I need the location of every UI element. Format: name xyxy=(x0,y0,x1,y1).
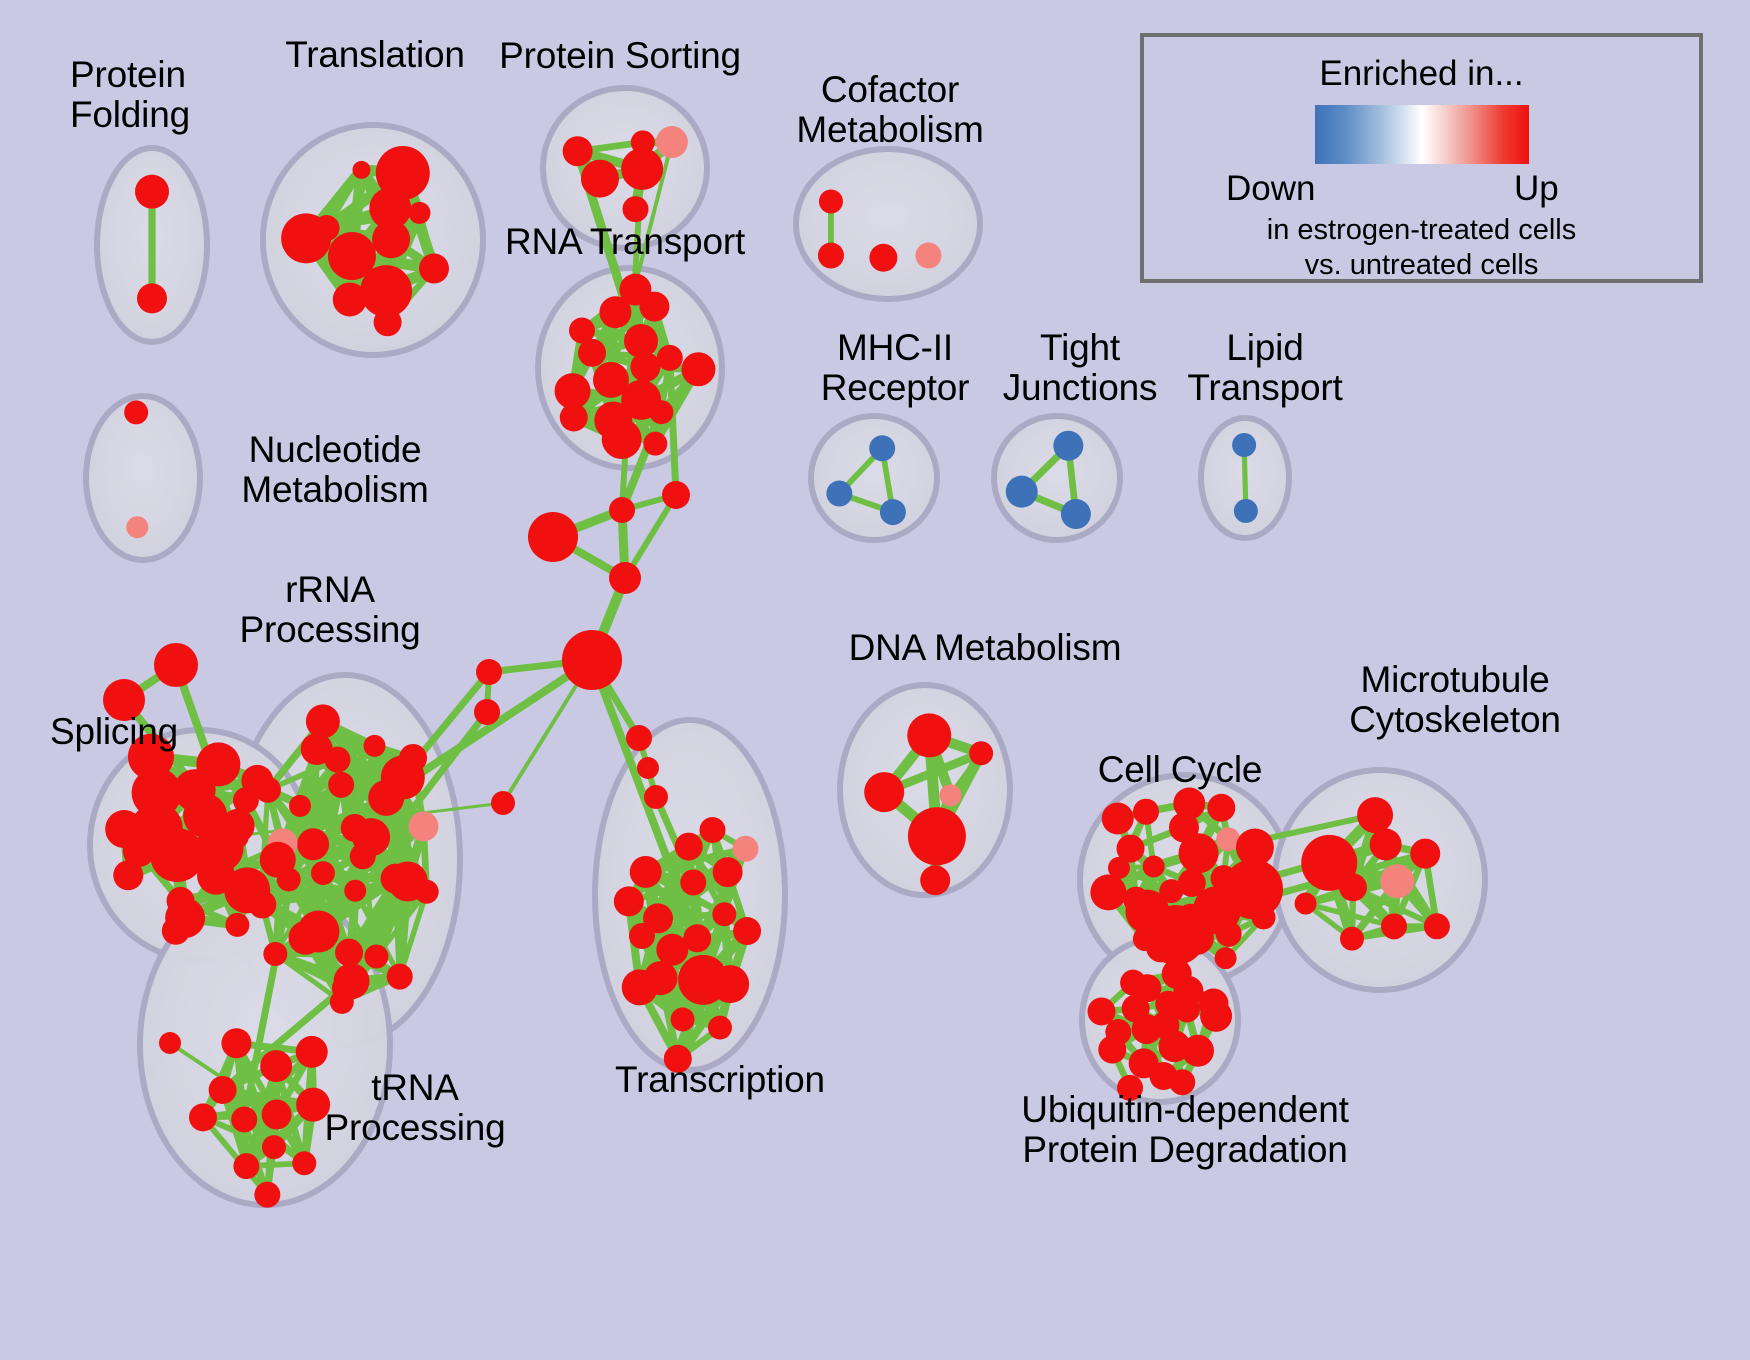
node-microtubule-cytoskeleton[interactable] xyxy=(1340,927,1364,951)
node-rna-transport[interactable] xyxy=(619,274,651,306)
node-lipid-transport[interactable] xyxy=(1234,499,1258,523)
node-rna-transport[interactable] xyxy=(681,352,715,386)
cluster-label-rrna-processing: rRNA Processing xyxy=(205,570,455,650)
node-rrna-processing[interactable] xyxy=(289,921,323,955)
node-translation[interactable] xyxy=(376,146,430,200)
node-microtubule-cytoskeleton[interactable] xyxy=(1410,839,1440,869)
node-mhc-ii-receptor[interactable] xyxy=(880,499,906,525)
node-bridge[interactable] xyxy=(562,630,622,690)
node-cell-cycle[interactable] xyxy=(1207,794,1235,822)
node-rna-transport[interactable] xyxy=(649,400,673,424)
cluster-label-splicing: Splicing xyxy=(50,712,250,752)
node-rrna-processing[interactable] xyxy=(363,735,385,757)
node-trna-processing[interactable] xyxy=(292,1151,316,1175)
node-dna-metabolism[interactable] xyxy=(864,772,904,812)
node-rrna-processing[interactable] xyxy=(311,861,335,885)
node-rrna-processing[interactable] xyxy=(306,704,340,738)
node-microtubule-cytoskeleton[interactable] xyxy=(1370,828,1402,860)
legend-high-label: Up xyxy=(1514,169,1559,209)
node-cofactor-metabolism[interactable] xyxy=(915,243,941,269)
node-ubiquitin-protein-degradation[interactable] xyxy=(1120,970,1146,996)
node-microtubule-cytoskeleton[interactable] xyxy=(1424,913,1450,939)
node-cell-cycle[interactable] xyxy=(1236,828,1274,866)
node-protein-folding[interactable] xyxy=(137,283,167,313)
node-splicing[interactable] xyxy=(241,765,273,797)
node-trna-processing[interactable] xyxy=(262,1135,286,1159)
node-bridge[interactable] xyxy=(1146,905,1206,965)
cluster-label-transcription: Transcription xyxy=(560,1060,880,1100)
node-rna-transport[interactable] xyxy=(643,432,667,456)
node-rrna-processing[interactable] xyxy=(328,772,354,798)
node-tight-junctions[interactable] xyxy=(1061,499,1091,529)
node-cell-cycle[interactable] xyxy=(1252,905,1276,929)
node-bridge[interactable] xyxy=(154,643,198,687)
node-cell-cycle[interactable] xyxy=(1215,947,1237,969)
node-bridge[interactable] xyxy=(476,659,502,685)
node-cofactor-metabolism[interactable] xyxy=(819,190,843,214)
legend-low-label: Down xyxy=(1226,169,1315,209)
node-rrna-processing[interactable] xyxy=(364,945,388,969)
cluster-ellipse-cofactor-metabolism xyxy=(796,149,980,299)
node-transcription[interactable] xyxy=(713,857,743,887)
node-cell-cycle[interactable] xyxy=(1133,799,1159,825)
node-rna-transport[interactable] xyxy=(657,345,683,371)
node-transcription[interactable] xyxy=(711,965,749,1003)
node-mhc-ii-receptor[interactable] xyxy=(869,435,895,461)
node-transcription[interactable] xyxy=(680,869,706,895)
node-rrna-processing[interactable] xyxy=(330,990,354,1014)
node-transcription[interactable] xyxy=(622,969,658,1005)
node-dna-metabolism[interactable] xyxy=(907,713,951,757)
node-rrna-processing[interactable] xyxy=(335,939,363,967)
node-rna-transport[interactable] xyxy=(624,324,658,358)
node-ubiquitin-protein-degradation[interactable] xyxy=(1182,1035,1214,1067)
node-trna-processing[interactable] xyxy=(254,1182,280,1208)
edge xyxy=(289,879,396,880)
legend-title: Enriched in... xyxy=(1144,54,1699,94)
node-transcription[interactable] xyxy=(733,917,761,945)
node-transcription[interactable] xyxy=(671,1007,695,1031)
node-protein-sorting[interactable] xyxy=(656,126,688,158)
node-bridge[interactable] xyxy=(474,699,500,725)
node-trna-processing[interactable] xyxy=(221,1028,251,1058)
legend-color-bar xyxy=(1315,105,1529,164)
node-splicing[interactable] xyxy=(224,867,270,913)
node-cell-cycle[interactable] xyxy=(1173,787,1205,819)
node-nucleotide-metabolism[interactable] xyxy=(126,516,148,538)
node-transcription[interactable] xyxy=(712,902,736,926)
node-rna-transport[interactable] xyxy=(602,419,642,459)
node-rrna-processing[interactable] xyxy=(297,828,329,860)
cluster-label-ubiquitin-protein-degradation: Ubiquitin-dependent Protein Degradation xyxy=(960,1090,1410,1170)
node-dna-metabolism[interactable] xyxy=(969,741,993,765)
node-ubiquitin-protein-degradation[interactable] xyxy=(1098,1036,1126,1064)
node-transcription[interactable] xyxy=(629,923,655,949)
node-cell-cycle[interactable] xyxy=(1143,856,1165,878)
node-bridge[interactable] xyxy=(609,562,641,594)
cluster-label-lipid-transport: Lipid Transport xyxy=(1150,328,1380,408)
node-rrna-processing[interactable] xyxy=(289,795,311,817)
node-cell-cycle[interactable] xyxy=(1223,859,1283,919)
node-protein-sorting[interactable] xyxy=(631,130,655,154)
node-cell-cycle[interactable] xyxy=(1216,921,1242,947)
node-dna-metabolism[interactable] xyxy=(920,865,950,895)
node-ubiquitin-protein-degradation[interactable] xyxy=(1087,997,1115,1025)
node-tight-junctions[interactable] xyxy=(1006,476,1038,508)
node-rna-transport[interactable] xyxy=(569,317,595,343)
node-trna-processing[interactable] xyxy=(260,1050,292,1082)
node-ubiquitin-protein-degradation[interactable] xyxy=(1198,988,1228,1018)
node-trna-processing[interactable] xyxy=(262,1099,292,1129)
node-bridge[interactable] xyxy=(626,725,652,751)
cluster-label-cofactor-metabolism: Cofactor Metabolism xyxy=(745,70,1035,150)
node-translation[interactable] xyxy=(333,282,367,316)
node-trna-processing[interactable] xyxy=(189,1103,217,1131)
node-rrna-processing[interactable] xyxy=(415,880,439,904)
node-translation[interactable] xyxy=(374,308,402,336)
node-translation[interactable] xyxy=(281,213,331,263)
node-trna-processing[interactable] xyxy=(233,1153,259,1179)
node-cell-cycle[interactable] xyxy=(1090,874,1126,910)
node-protein-sorting[interactable] xyxy=(563,136,593,166)
node-transcription[interactable] xyxy=(708,1016,732,1040)
node-splicing[interactable] xyxy=(162,917,190,945)
node-trna-processing[interactable] xyxy=(296,1036,328,1068)
node-rrna-processing[interactable] xyxy=(344,880,366,902)
node-microtubule-cytoskeleton[interactable] xyxy=(1381,913,1407,939)
node-rrna-processing[interactable] xyxy=(263,942,287,966)
node-microtubule-cytoskeleton[interactable] xyxy=(1357,797,1393,833)
node-protein-sorting[interactable] xyxy=(622,196,648,222)
node-lipid-transport[interactable] xyxy=(1232,433,1256,457)
node-nucleotide-metabolism[interactable] xyxy=(124,400,148,424)
node-mhc-ii-receptor[interactable] xyxy=(826,481,852,507)
legend-subtitle: in estrogen-treated cells vs. untreated … xyxy=(1144,213,1699,283)
node-translation[interactable] xyxy=(352,161,370,179)
node-microtubule-cytoskeleton[interactable] xyxy=(1380,864,1414,898)
node-cofactor-metabolism[interactable] xyxy=(818,243,844,269)
cluster-label-trna-processing: tRNA Processing xyxy=(290,1068,540,1148)
node-dna-metabolism[interactable] xyxy=(908,807,966,865)
node-bridge[interactable] xyxy=(637,757,659,779)
cluster-label-rna-transport: RNA Transport xyxy=(430,222,820,262)
node-bridge[interactable] xyxy=(159,1032,181,1054)
node-transcription[interactable] xyxy=(630,856,662,888)
node-splicing[interactable] xyxy=(225,913,249,937)
node-splicing[interactable] xyxy=(105,810,143,848)
node-trna-processing[interactable] xyxy=(231,1106,257,1132)
node-splicing[interactable] xyxy=(260,842,296,878)
node-translation[interactable] xyxy=(408,202,430,224)
node-transcription[interactable] xyxy=(732,836,758,862)
node-transcription[interactable] xyxy=(699,817,725,843)
node-microtubule-cytoskeleton[interactable] xyxy=(1295,893,1317,915)
cluster-ellipse-tight-junctions xyxy=(994,416,1120,540)
node-cell-cycle[interactable] xyxy=(1102,803,1134,835)
node-splicing[interactable] xyxy=(113,860,143,890)
cluster-label-dna-metabolism: DNA Metabolism xyxy=(790,628,1180,668)
legend-box: Enriched in... Down Up in estrogen-treat… xyxy=(1140,33,1703,283)
node-microtubule-cytoskeleton[interactable] xyxy=(1301,835,1357,891)
cluster-ellipse-mhc-ii-receptor xyxy=(811,416,937,540)
node-rrna-processing[interactable] xyxy=(301,733,333,765)
node-rrna-processing[interactable] xyxy=(352,818,390,856)
node-transcription[interactable] xyxy=(675,833,703,861)
node-bridge[interactable] xyxy=(528,512,578,562)
node-protein-sorting[interactable] xyxy=(581,160,619,198)
cluster-label-nucleotide-metabolism: Nucleotide Metabolism xyxy=(190,430,480,510)
cluster-label-cell-cycle: Cell Cycle xyxy=(1040,750,1320,790)
node-tight-junctions[interactable] xyxy=(1053,431,1083,461)
node-rrna-processing[interactable] xyxy=(387,964,413,990)
node-bridge[interactable] xyxy=(491,791,515,815)
node-rna-transport[interactable] xyxy=(560,403,588,431)
node-bridge[interactable] xyxy=(609,497,635,523)
node-trna-processing[interactable] xyxy=(209,1076,237,1104)
node-protein-folding[interactable] xyxy=(135,175,169,209)
cluster-label-microtubule-cytoskeleton: Microtubule Cytoskeleton xyxy=(1280,660,1630,740)
node-dna-metabolism[interactable] xyxy=(940,784,962,806)
node-rrna-processing[interactable] xyxy=(408,811,438,841)
node-cofactor-metabolism[interactable] xyxy=(869,244,897,272)
node-cell-cycle[interactable] xyxy=(1123,887,1149,913)
node-transcription[interactable] xyxy=(614,886,644,916)
node-bridge[interactable] xyxy=(662,481,690,509)
node-bridge[interactable] xyxy=(644,785,668,809)
node-bridge[interactable] xyxy=(223,823,249,849)
node-rrna-processing[interactable] xyxy=(399,744,427,772)
node-transcription[interactable] xyxy=(656,934,688,966)
network-figure: Protein FoldingTranslationProtein Sortin… xyxy=(0,0,1750,1360)
